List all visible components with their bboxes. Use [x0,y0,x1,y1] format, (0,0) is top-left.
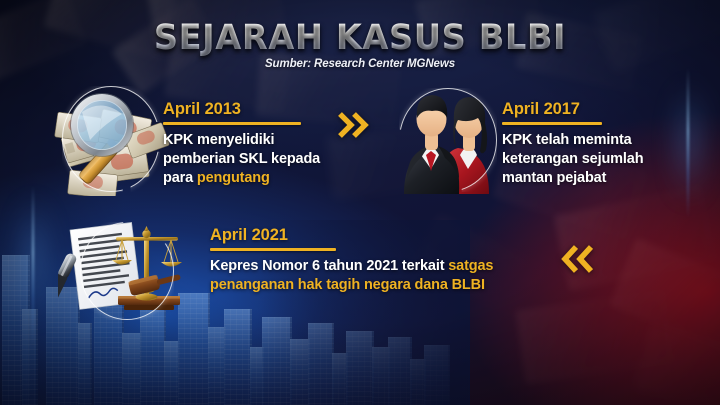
event-block-2013: April 2013 KPK menyelidiki pemberian SKL… [163,100,331,188]
event-block-2021: April 2021 Kepres Nomor 6 tahun 2021 ter… [210,226,570,295]
event-text-2017-line3: mantan pejabat [502,170,606,186]
event-year-2021: April 2021 [210,226,570,245]
event-text-2021-highlight1: satgas [448,258,493,274]
event-rule-2013 [163,122,301,125]
event-rule-2017 [502,122,602,125]
event-text-2021: Kepres Nomor 6 tahun 2021 terkait satgas… [210,257,570,296]
event-year-2017: April 2017 [502,100,682,119]
event-text-2013-line3: para [163,170,197,186]
infographic-canvas: SEJARAH KASUS BLBI SEJARAH KASUS BLBI Su… [0,0,720,405]
double-chevron-left-icon [560,243,596,275]
event-rule-2021 [210,248,336,251]
event-text-2017: KPK telah meminta keterangan sejumlah ma… [502,131,682,189]
event-text-2021-line1: Kepres Nomor 6 tahun 2021 terkait [210,258,448,274]
event-text-2017-line2: keterangan sejumlah [502,151,643,167]
double-chevron-right-icon [338,110,372,140]
event-text-2013: KPK menyelidiki pemberian SKL kepada par… [163,131,331,189]
event-text-2013-highlight: pengutang [197,170,270,186]
page-subtitle: Sumber: Research Center MGNews [0,58,720,70]
page-title: SEJARAH KASUS BLBI [14,18,705,58]
event-year-2013: April 2013 [163,100,331,119]
event-text-2017-line1: KPK telah meminta [502,132,632,148]
event-block-2017: April 2017 KPK telah meminta keterangan … [502,100,682,188]
event-text-2013-line2: pemberian SKL kepada [163,151,320,167]
event-text-2021-highlight2: penanganan hak tagih negara dana BLBI [210,277,485,293]
event-text-2013-line1: KPK menyelidiki [163,132,274,148]
